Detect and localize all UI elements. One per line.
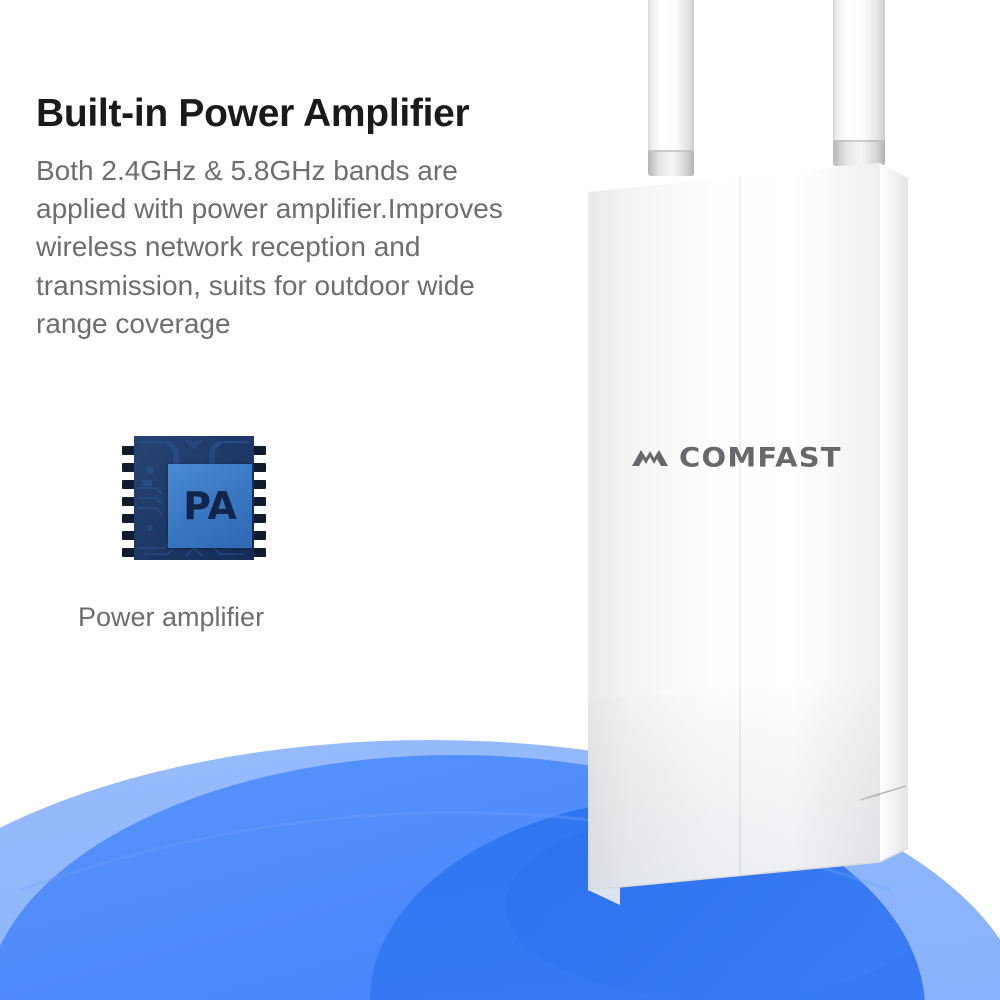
description-paragraph: Both 2.4GHz & 5.8GHz bands are applied w… bbox=[36, 152, 596, 344]
description-line: transmission, suits for outdoor wide bbox=[36, 267, 596, 305]
device-side-face bbox=[880, 163, 908, 862]
brand-name: COMFAST bbox=[679, 444, 842, 471]
description-line: Both 2.4GHz & 5.8GHz bands are bbox=[36, 152, 596, 190]
chip-label: PA bbox=[183, 487, 237, 525]
comfast-mountain-logo-icon bbox=[630, 444, 670, 470]
pa-chip-icon: PA bbox=[120, 424, 268, 572]
description-line: applied with power amplifier.Improves bbox=[36, 190, 596, 228]
feature-icon-block: PA Power amplifier bbox=[78, 424, 498, 633]
chip-core: PA bbox=[168, 464, 252, 548]
description-line: wireless network reception and bbox=[36, 228, 596, 266]
antenna-right bbox=[833, 0, 885, 166]
copy-block: Built-in Power Amplifier Both 2.4GHz & 5… bbox=[36, 92, 596, 343]
brand-logo: COMFAST bbox=[630, 437, 870, 477]
page-title: Built-in Power Amplifier bbox=[36, 92, 596, 136]
feature-icon-caption: Power amplifier bbox=[78, 602, 498, 633]
product-device: COMFAST bbox=[560, 0, 960, 1000]
antenna-left bbox=[648, 0, 694, 176]
device-svg bbox=[560, 0, 960, 1000]
product-feature-banner: Built-in Power Amplifier Both 2.4GHz & 5… bbox=[0, 0, 1000, 1000]
description-line: range coverage bbox=[36, 305, 596, 343]
device-base-shading bbox=[588, 676, 880, 890]
chip-package: PA bbox=[134, 436, 254, 560]
